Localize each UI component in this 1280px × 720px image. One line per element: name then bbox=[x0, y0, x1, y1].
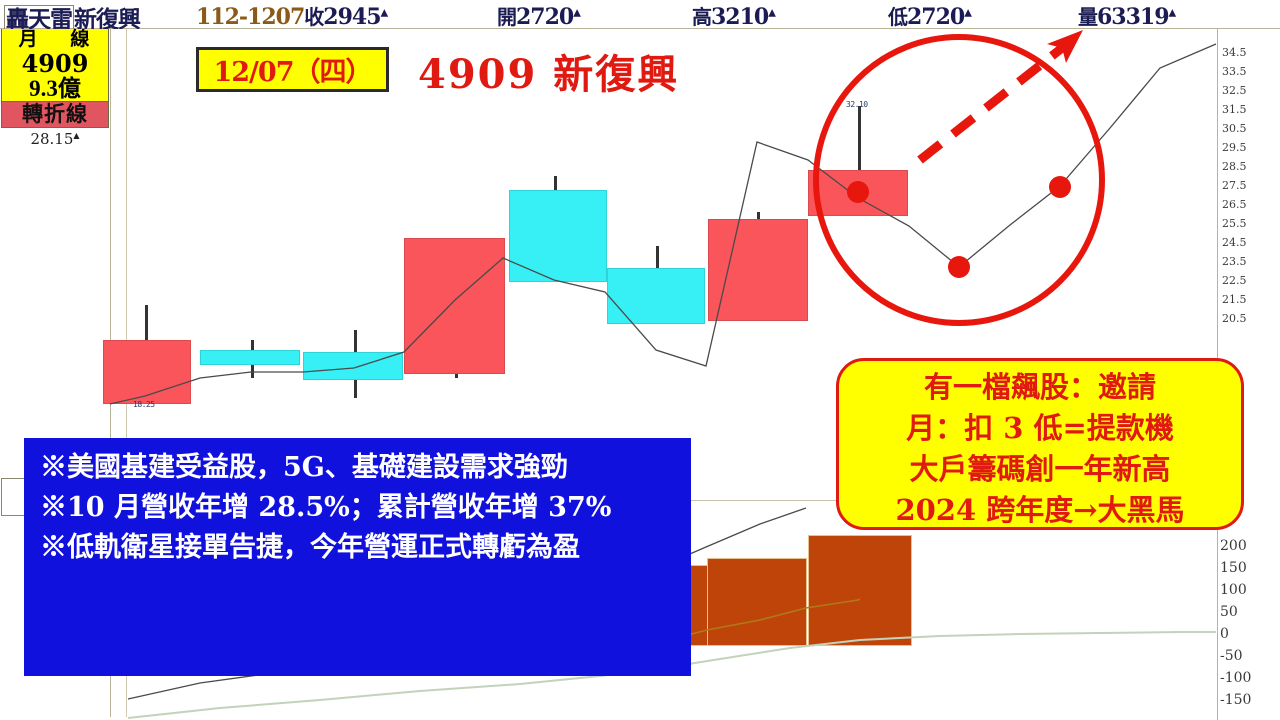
header-close-group: 112-1207收2945▲ bbox=[196, 1, 387, 30]
indicator-label: 轉折線 bbox=[1, 102, 109, 128]
candle-body bbox=[607, 268, 705, 324]
axis-tick: 24.5 bbox=[1222, 238, 1247, 248]
app-header: 轟天雷新復興 112-1207收2945▲ 開2720▲ 高3210▲ 低272… bbox=[0, 0, 1280, 29]
axis-tick-volume: 100 bbox=[1220, 585, 1247, 595]
header-low-group: 低2720▲ bbox=[888, 1, 971, 30]
axis-tick: 21.5 bbox=[1222, 295, 1247, 305]
axis-tick: 23.5 bbox=[1222, 257, 1247, 267]
indicator-value: 28.15 bbox=[30, 130, 73, 148]
axis-tick: 32.5 bbox=[1222, 86, 1247, 96]
header-low-value: 2720 bbox=[907, 4, 964, 30]
candle-body bbox=[808, 170, 908, 216]
axis-tick: 30.5 bbox=[1222, 124, 1247, 134]
candle-high-label: 32.10 bbox=[846, 100, 868, 109]
axis-tick-volume: -50 bbox=[1220, 651, 1243, 661]
blue-note-box: ※美國基建受益股，5G、基礎建設需求強勁 ※10 月營收年增 28.5%；累計營… bbox=[24, 438, 691, 676]
axis-tick: 26.5 bbox=[1222, 200, 1247, 210]
left-panel-yellow-block: 月 線 4909 9.3億 bbox=[1, 29, 109, 102]
candle-body bbox=[708, 219, 808, 321]
blue-note-line: ※低軌衛星接單告捷，今年營運正式轉虧為盈 bbox=[40, 528, 675, 568]
header-low-label: 低 bbox=[888, 5, 907, 29]
axis-tick: 20.5 bbox=[1222, 314, 1247, 324]
header-volume-label: 量 bbox=[1078, 5, 1097, 29]
header-volume-value: 63319 bbox=[1097, 4, 1169, 30]
header-volume-group: 量63319▲ bbox=[1078, 1, 1175, 30]
axis-tick: 28.5 bbox=[1222, 162, 1247, 172]
axis-tick-volume: 150 bbox=[1220, 563, 1247, 573]
axis-tick-volume: 200 bbox=[1220, 541, 1247, 551]
header-close-value: 2945 bbox=[323, 4, 380, 30]
axis-tick-volume: -100 bbox=[1220, 673, 1251, 683]
header-low-tick: ▲ bbox=[964, 8, 971, 19]
yellow-note-line: 大戶籌碼創一年新高 bbox=[849, 449, 1231, 490]
header-volume-tick: ▲ bbox=[1169, 8, 1176, 19]
axis-tick: 33.5 bbox=[1222, 67, 1247, 77]
header-open-group: 開2720▲ bbox=[497, 1, 580, 30]
yellow-note-line: 有一檔飆股：邀請 bbox=[849, 367, 1231, 408]
stock-code: 4909 bbox=[2, 51, 108, 76]
axis-tick-volume: -150 bbox=[1220, 695, 1251, 705]
header-open-label: 開 bbox=[497, 5, 516, 29]
candle-low-label: 18.25 bbox=[133, 400, 155, 409]
header-close-tick: ▲ bbox=[381, 8, 388, 19]
axis-tick: 29.5 bbox=[1222, 143, 1247, 153]
axis-tick: 27.5 bbox=[1222, 181, 1247, 191]
header-high-group: 高3210▲ bbox=[692, 1, 775, 30]
candle-body bbox=[509, 190, 607, 282]
chart-title: 4909 新復興 bbox=[418, 42, 679, 100]
header-high-tick: ▲ bbox=[768, 8, 775, 19]
axis-tick: 34.5 bbox=[1222, 48, 1247, 58]
date-badge: 12/07（四） bbox=[196, 47, 389, 92]
candle-body bbox=[404, 238, 505, 374]
header-close-label: 收 bbox=[304, 5, 323, 29]
candle-body bbox=[303, 352, 403, 380]
axis-tick-volume: 50 bbox=[1220, 607, 1238, 617]
blue-note-line: ※美國基建受益股，5G、基礎建設需求強勁 bbox=[40, 448, 675, 488]
yellow-note-box: 有一檔飆股：邀請 月：扣 3 低=提款機 大戶籌碼創一年新高 2024 跨年度→… bbox=[836, 358, 1244, 530]
axis-tick: 31.5 bbox=[1222, 105, 1247, 115]
header-date-code: 112-1207 bbox=[196, 4, 304, 30]
indicator-value-row: 28.15▲ bbox=[1, 128, 109, 148]
volume-bar bbox=[808, 535, 912, 646]
yellow-note-line: 月：扣 3 低=提款機 bbox=[849, 408, 1231, 449]
indicator-value-tick: ▲ bbox=[73, 131, 79, 140]
candle-wick bbox=[858, 106, 861, 178]
axis-tick: 25.5 bbox=[1222, 219, 1247, 229]
header-high-label: 高 bbox=[692, 5, 711, 29]
header-open-tick: ▲ bbox=[573, 8, 580, 19]
header-open-value: 2720 bbox=[516, 4, 573, 30]
axis-tick-volume: 0 bbox=[1220, 629, 1229, 639]
volume-bar bbox=[707, 558, 807, 646]
left-info-panel: 月 線 4909 9.3億 轉折線 28.15▲ bbox=[1, 29, 109, 148]
candle-body bbox=[103, 340, 191, 404]
axis-tick: 22.5 bbox=[1222, 276, 1247, 286]
turnover-amount: 9.3億 bbox=[2, 76, 108, 101]
blue-note-line: ※10 月營收年增 28.5%；累計營收年增 37% bbox=[40, 488, 675, 528]
period-label: 月 線 bbox=[2, 29, 108, 51]
candle-body bbox=[200, 350, 300, 365]
header-high-value: 3210 bbox=[711, 4, 768, 30]
yellow-note-line: 2024 跨年度→大黑馬 bbox=[849, 490, 1231, 531]
